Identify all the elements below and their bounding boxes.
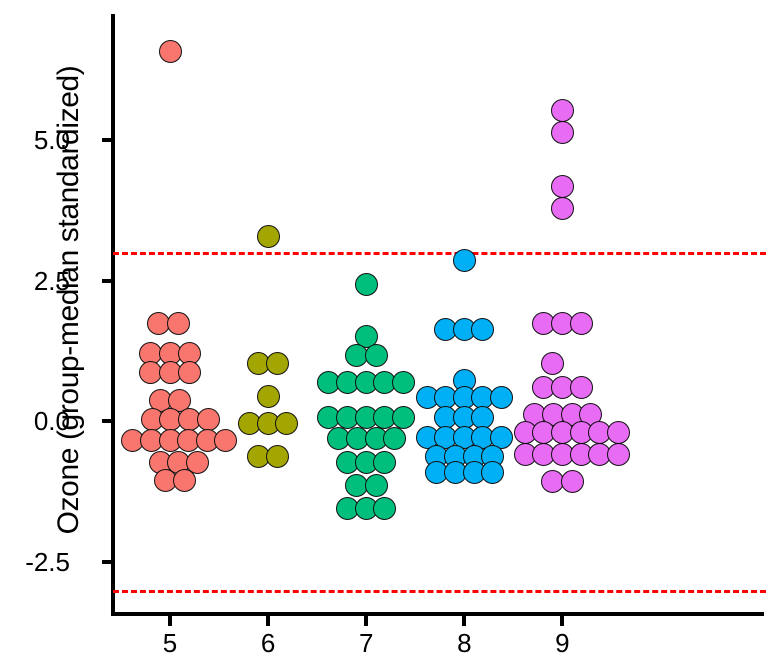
data-point-group-7 xyxy=(392,406,415,429)
x-tick-label-8: 8 xyxy=(434,628,494,659)
y-tick-0.0 xyxy=(102,419,112,423)
data-point-group-5 xyxy=(214,429,237,452)
data-point-group-7 xyxy=(355,273,378,296)
y-tick--2.5 xyxy=(102,560,112,564)
data-point-group-8 xyxy=(471,406,494,429)
x-tick-label-5: 5 xyxy=(140,628,200,659)
data-point-group-9 xyxy=(551,99,574,122)
x-tick-8 xyxy=(462,616,466,626)
y-axis-line xyxy=(111,14,115,616)
scatter-plot-figure: Ozone (group-median standardized) -2.50.… xyxy=(0,0,768,672)
data-point-group-7 xyxy=(392,371,415,394)
x-tick-label-9: 9 xyxy=(532,628,592,659)
x-tick-label-6: 6 xyxy=(238,628,298,659)
x-tick-label-7: 7 xyxy=(336,628,396,659)
data-point-group-7 xyxy=(365,474,388,497)
y-axis-title: Ozone (group-median standardized) xyxy=(46,0,92,610)
data-point-group-9 xyxy=(551,121,574,144)
data-point-group-7 xyxy=(373,451,396,474)
data-point-group-6 xyxy=(257,225,280,248)
data-point-group-8 xyxy=(481,461,504,484)
data-point-group-6 xyxy=(266,445,289,468)
data-point-group-9 xyxy=(607,421,630,444)
x-axis-line xyxy=(111,612,764,616)
data-point-group-9 xyxy=(561,470,584,493)
data-point-group-9 xyxy=(570,376,593,399)
data-point-group-5 xyxy=(147,312,170,335)
data-point-group-5 xyxy=(178,361,201,384)
data-point-group-9 xyxy=(541,352,564,375)
data-point-group-9 xyxy=(570,312,593,335)
data-point-group-9 xyxy=(607,443,630,466)
data-point-group-8 xyxy=(453,249,476,272)
data-point-group-5 xyxy=(167,312,190,335)
data-point-group-9 xyxy=(551,175,574,198)
y-tick-label-0.0: 0.0 xyxy=(0,406,70,437)
lower-threshold xyxy=(113,590,766,593)
data-point-group-6 xyxy=(257,385,280,408)
data-point-group-6 xyxy=(275,412,298,435)
y-tick-2.5 xyxy=(102,279,112,283)
y-tick-5.0 xyxy=(102,138,112,142)
y-tick-label-2.5: 2.5 xyxy=(0,266,70,297)
data-point-group-8 xyxy=(471,318,494,341)
data-point-group-9 xyxy=(551,197,574,220)
y-tick-label-5.0: 5.0 xyxy=(0,125,70,156)
x-tick-6 xyxy=(266,616,270,626)
data-point-group-8 xyxy=(490,386,513,409)
data-point-group-5 xyxy=(173,469,196,492)
data-point-group-6 xyxy=(266,352,289,375)
data-point-group-7 xyxy=(373,497,396,520)
x-tick-5 xyxy=(168,616,172,626)
x-tick-7 xyxy=(364,616,368,626)
data-point-group-7 xyxy=(383,427,406,450)
y-tick-label--2.5: -2.5 xyxy=(0,547,70,578)
data-point-group-5 xyxy=(159,40,182,63)
data-point-group-7 xyxy=(365,344,388,367)
upper-threshold xyxy=(113,252,766,255)
x-tick-9 xyxy=(560,616,564,626)
data-point-group-5 xyxy=(197,408,220,431)
